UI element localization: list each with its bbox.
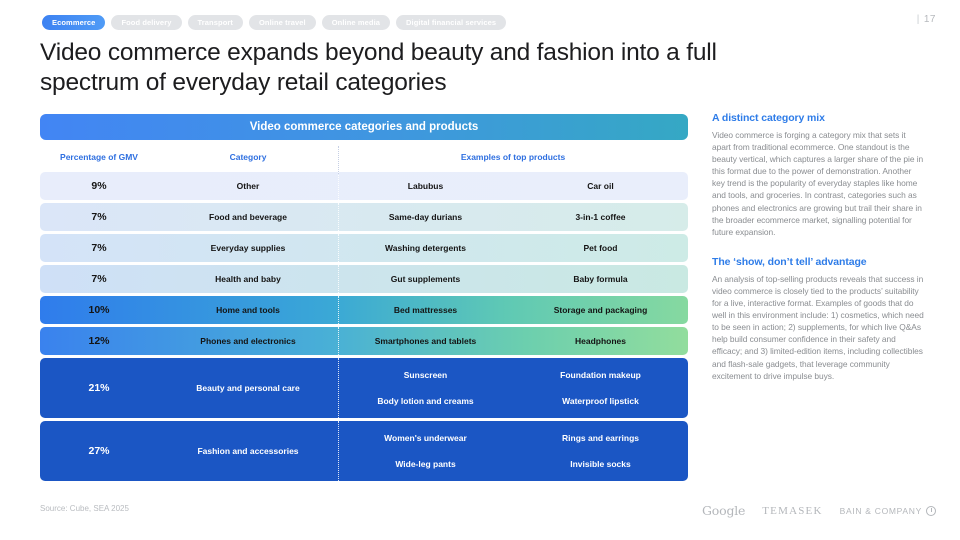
category-pill-0[interactable]: Ecommerce — [42, 15, 105, 30]
row-example-line: Washing detergentsPet food — [338, 243, 688, 253]
page-number: |17 — [917, 14, 936, 25]
commentary-body-1: Video commerce is forging a category mix… — [712, 129, 924, 238]
row-divider-dotted — [338, 172, 339, 200]
row-divider-dotted — [338, 203, 339, 231]
row-example-item: Labubus — [338, 181, 513, 191]
row-percentage: 21% — [40, 382, 158, 394]
row-category: Home and tools — [158, 305, 338, 315]
row-category: Everyday supplies — [158, 243, 338, 253]
slide: EcommerceFood deliveryTransportOnline tr… — [0, 0, 960, 540]
row-category: Other — [158, 181, 338, 191]
table-row: 27%Fashion and accessoriesWomen's underw… — [40, 421, 688, 481]
page-title: Video commerce expands beyond beauty and… — [40, 38, 720, 98]
row-category: Phones and electronics — [158, 336, 338, 346]
category-table: Video commerce categories and products P… — [40, 114, 688, 481]
commentary-section-1: A distinct category mix Video commerce i… — [712, 112, 924, 238]
column-header-examples: Examples of top products — [338, 152, 688, 162]
row-percentage: 10% — [40, 304, 158, 316]
row-examples: SunscreenFoundation makeupBody lotion an… — [338, 370, 688, 406]
row-example-line: Bed mattressesStorage and packaging — [338, 305, 688, 315]
bain-circle-icon — [926, 506, 936, 516]
table-row: 7%Everyday suppliesWashing detergentsPet… — [40, 234, 688, 262]
row-category: Beauty and personal care — [158, 383, 338, 393]
row-example-line: Wide-leg pantsInvisible socks — [338, 459, 688, 469]
row-example-item: Pet food — [513, 243, 688, 253]
row-example-line: Gut supplementsBaby formula — [338, 274, 688, 284]
row-percentage: 7% — [40, 211, 158, 223]
row-example-item: Gut supplements — [338, 274, 513, 284]
row-category: Health and baby — [158, 274, 338, 284]
row-example-item: Body lotion and creams — [338, 396, 513, 406]
table-row: 9%OtherLabubusCar oil — [40, 172, 688, 200]
row-divider-dotted — [338, 265, 339, 293]
row-divider-dotted — [338, 296, 339, 324]
row-example-item: Bed mattresses — [338, 305, 513, 315]
table-rows: 9%OtherLabubusCar oil7%Food and beverage… — [40, 172, 688, 481]
row-examples: Women's underwearRings and earringsWide-… — [338, 433, 688, 469]
row-example-item: Washing detergents — [338, 243, 513, 253]
category-pill-5[interactable]: Digital financial services — [396, 15, 506, 30]
row-percentage: 7% — [40, 273, 158, 285]
column-header-percentage: Percentage of GMV — [40, 152, 158, 162]
row-example-item: Rings and earrings — [513, 433, 688, 443]
row-example-item: Storage and packaging — [513, 305, 688, 315]
row-example-line: Body lotion and creamsWaterproof lipstic… — [338, 396, 688, 406]
source-note: Source: Cube, SEA 2025 — [40, 504, 129, 513]
row-examples: Same-day durians3-in-1 coffee — [338, 212, 688, 222]
commentary-sidebar: A distinct category mix Video commerce i… — [712, 112, 924, 382]
row-example-line: Smartphones and tabletsHeadphones — [338, 336, 688, 346]
row-divider-dotted — [338, 327, 339, 355]
commentary-heading-2: The ‘show, don’t tell’ advantage — [712, 256, 924, 268]
row-percentage: 7% — [40, 242, 158, 254]
row-examples: Bed mattressesStorage and packaging — [338, 305, 688, 315]
row-examples: Gut supplementsBaby formula — [338, 274, 688, 284]
row-percentage: 27% — [40, 445, 158, 457]
table-row: 12%Phones and electronicsSmartphones and… — [40, 327, 688, 355]
row-percentage: 9% — [40, 180, 158, 192]
row-example-item: Baby formula — [513, 274, 688, 284]
table-column-headers: Percentage of GMV Category Examples of t… — [40, 142, 688, 172]
bain-logo: BAIN & COMPANY — [840, 506, 936, 516]
category-pill-1[interactable]: Food delivery — [111, 15, 181, 30]
row-example-item: Headphones — [513, 336, 688, 346]
row-examples: Washing detergentsPet food — [338, 243, 688, 253]
table-header-banner: Video commerce categories and products — [40, 114, 688, 140]
google-logo: Google — [702, 503, 745, 518]
row-example-item: Sunscreen — [338, 370, 513, 380]
commentary-heading-1: A distinct category mix — [712, 112, 924, 124]
row-example-line: LabubusCar oil — [338, 181, 688, 191]
partner-logos: Google TEMASEK BAIN & COMPANY — [702, 503, 936, 518]
page-number-separator: | — [917, 14, 920, 25]
row-examples: LabubusCar oil — [338, 181, 688, 191]
row-example-item: Waterproof lipstick — [513, 396, 688, 406]
category-pill-4[interactable]: Online media — [322, 15, 390, 30]
row-example-item: Wide-leg pants — [338, 459, 513, 469]
row-example-item: 3-in-1 coffee — [513, 212, 688, 222]
row-example-item: Invisible socks — [513, 459, 688, 469]
table-row: 10%Home and toolsBed mattressesStorage a… — [40, 296, 688, 324]
page-number-value: 17 — [924, 14, 936, 25]
category-pill-2[interactable]: Transport — [188, 15, 244, 30]
column-divider-dotted — [338, 146, 339, 174]
row-example-item: Smartphones and tablets — [338, 336, 513, 346]
row-example-item: Women's underwear — [338, 433, 513, 443]
commentary-section-2: The ‘show, don’t tell’ advantage An anal… — [712, 256, 924, 382]
table-row: 7%Food and beverageSame-day durians3-in-… — [40, 203, 688, 231]
table-row: 7%Health and babyGut supplementsBaby for… — [40, 265, 688, 293]
row-example-item: Foundation makeup — [513, 370, 688, 380]
category-pill-bar: EcommerceFood deliveryTransportOnline tr… — [42, 15, 506, 30]
commentary-body-2: An analysis of top-selling products reve… — [712, 273, 924, 382]
column-header-category: Category — [158, 152, 338, 162]
row-category: Fashion and accessories — [158, 446, 338, 456]
temasek-logo: TEMASEK — [762, 505, 822, 517]
row-divider-dotted — [338, 358, 339, 418]
table-row: 21%Beauty and personal careSunscreenFoun… — [40, 358, 688, 418]
bain-logo-text: BAIN & COMPANY — [840, 506, 922, 516]
row-example-line: Same-day durians3-in-1 coffee — [338, 212, 688, 222]
category-pill-3[interactable]: Online travel — [249, 15, 316, 30]
row-example-item: Car oil — [513, 181, 688, 191]
row-example-line: Women's underwearRings and earrings — [338, 433, 688, 443]
row-example-item: Same-day durians — [338, 212, 513, 222]
row-examples: Smartphones and tabletsHeadphones — [338, 336, 688, 346]
row-divider-dotted — [338, 421, 339, 481]
row-category: Food and beverage — [158, 212, 338, 222]
row-example-line: SunscreenFoundation makeup — [338, 370, 688, 380]
row-divider-dotted — [338, 234, 339, 262]
row-percentage: 12% — [40, 335, 158, 347]
